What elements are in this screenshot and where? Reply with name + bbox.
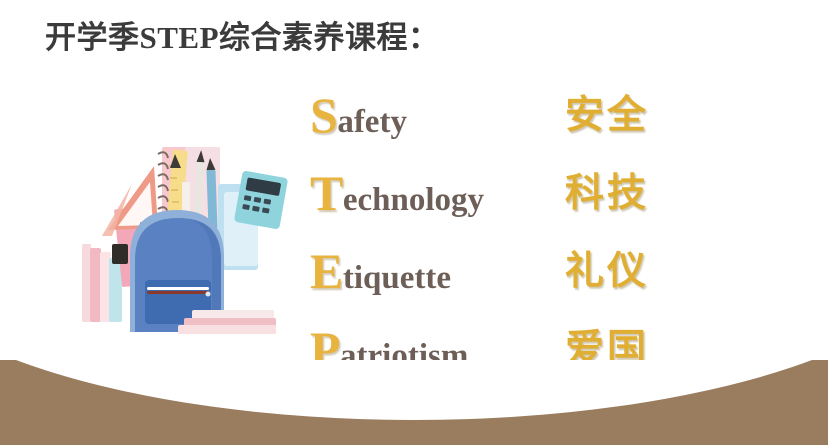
step-english-etiquette: Etiquette xyxy=(310,240,451,309)
step-initial-t: T xyxy=(310,165,343,221)
step-chinese-safety: 安全 xyxy=(565,84,649,148)
backpack-illustration xyxy=(72,132,297,342)
step-initial-e: E xyxy=(310,243,343,299)
step-word-etiquette: tiquette xyxy=(343,260,451,296)
slide-canvas: 开学季STEP综合素养课程： xyxy=(0,0,828,445)
step-initial-s: S xyxy=(310,87,337,143)
bottom-decorative-band xyxy=(0,360,828,445)
step-row-technology: Technology 科技 xyxy=(310,162,790,240)
step-row-etiquette: Etiquette 礼仪 xyxy=(310,240,790,318)
step-chinese-etiquette: 礼仪 xyxy=(565,240,649,304)
step-word-technology: echnology xyxy=(343,182,484,218)
band-white-curve xyxy=(0,360,828,420)
page-title: 开学季STEP综合素养课程： xyxy=(45,18,440,58)
step-word-safety: afety xyxy=(337,104,407,140)
step-english-technology: Technology xyxy=(310,162,484,231)
step-row-safety: Safety 安全 xyxy=(310,84,790,162)
step-acronym-list: Safety 安全 Technology 科技 Etiquette 礼仪 Pat… xyxy=(310,84,790,396)
step-chinese-technology: 科技 xyxy=(565,162,649,226)
books-bottom-icon xyxy=(178,310,276,334)
step-english-safety: Safety xyxy=(310,84,407,153)
